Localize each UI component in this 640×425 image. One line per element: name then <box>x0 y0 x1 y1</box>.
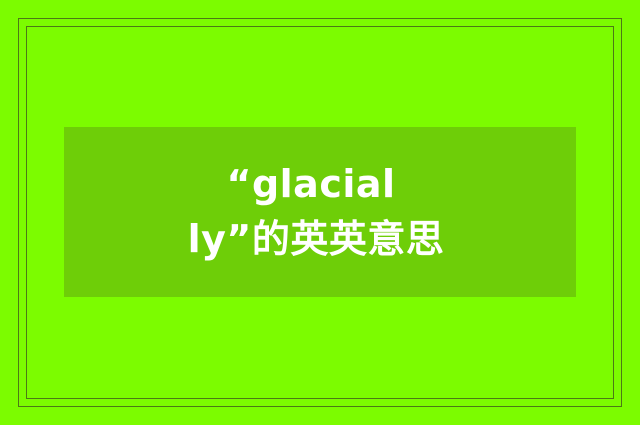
title-line-2: ly”的英英意思 <box>188 212 445 267</box>
title-line-1: “glacial <box>226 157 395 212</box>
banner-canvas: “glacial ly”的英英意思 <box>0 0 640 425</box>
title-panel: “glacial ly”的英英意思 <box>64 127 576 297</box>
